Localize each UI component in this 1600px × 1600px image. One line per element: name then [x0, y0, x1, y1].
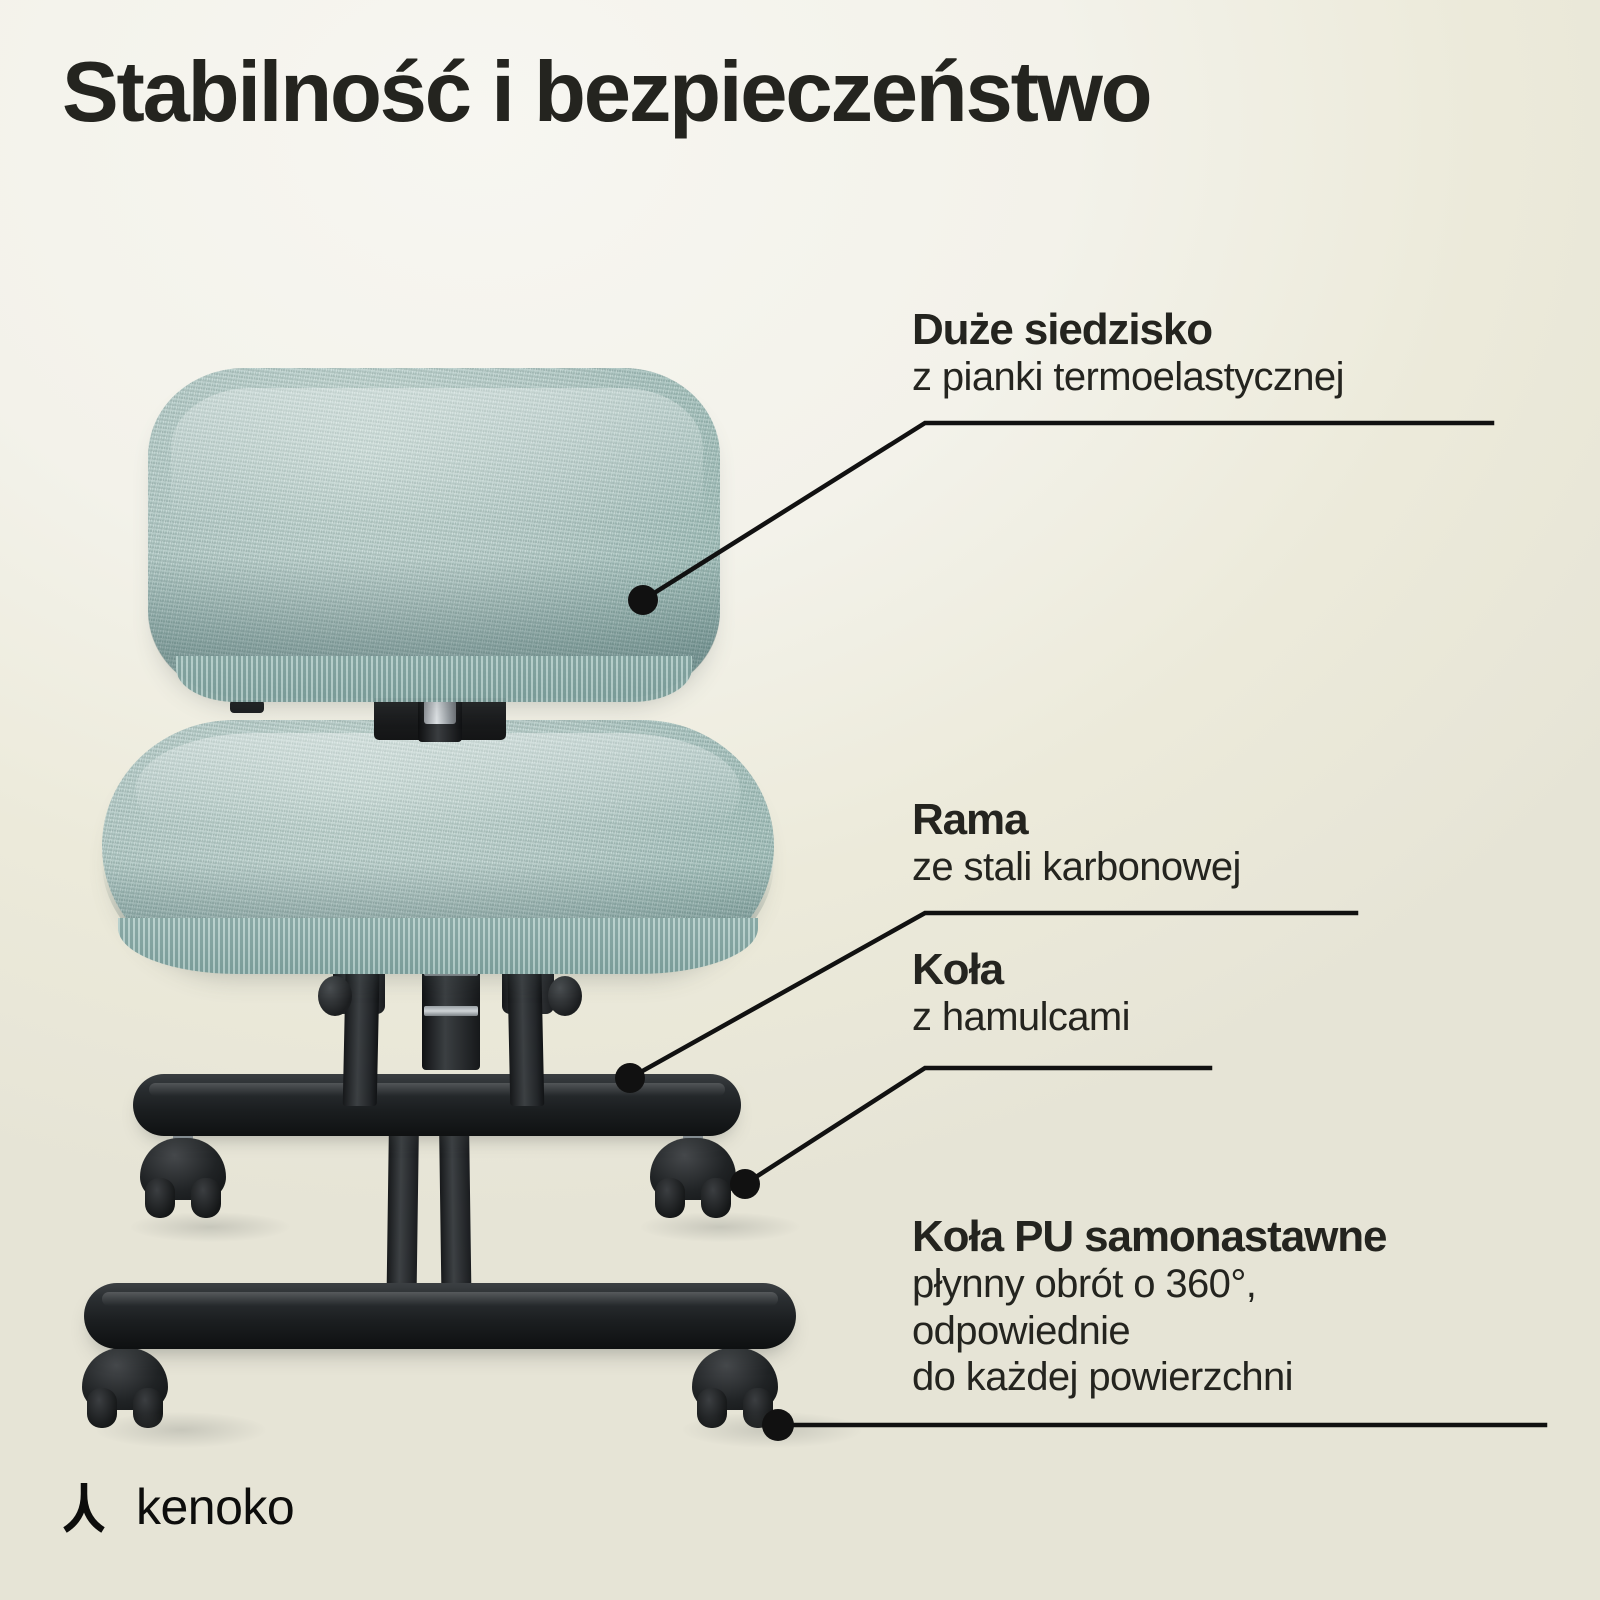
callout-seat: Duże siedzisko z pianki termoelastycznej	[912, 305, 1344, 401]
infographic-canvas: Stabilność i bezpieczeństwo Duże siedzis…	[0, 0, 1600, 1600]
leader-dot-frame	[615, 1063, 645, 1093]
brand-logo: kenoko	[58, 1478, 294, 1536]
brand-logo-text: kenoko	[136, 1478, 294, 1536]
page-title: Stabilność i bezpieczeństwo	[62, 48, 1562, 137]
callout-pu-wheels-heading: Koła PU samonastawne	[912, 1212, 1386, 1261]
callout-pu-wheels-subtext-line3: do każdej powierzchni	[912, 1354, 1386, 1400]
leader-dot-seat	[628, 585, 658, 615]
callout-wheels: Koła z hamulcami	[912, 945, 1130, 1041]
callout-seat-heading: Duże siedzisko	[912, 305, 1344, 354]
leader-line-wheels	[745, 1068, 1210, 1184]
callout-frame-heading: Rama	[912, 795, 1241, 844]
callout-seat-subtext: z pianki termoelastycznej	[912, 354, 1344, 401]
leader-line-seat	[643, 423, 1492, 600]
callout-wheels-subtext: z hamulcami	[912, 994, 1130, 1041]
callout-pu-wheels-subtext-line2: odpowiednie	[912, 1308, 1386, 1354]
leader-dot-pu-wheels	[762, 1409, 794, 1441]
callout-pu-wheels: Koła PU samonastawne płynny obrót o 360°…	[912, 1212, 1386, 1400]
leader-dot-wheels	[730, 1169, 760, 1199]
callout-frame-subtext: ze stali karbonowej	[912, 844, 1241, 891]
person-glyph-icon	[58, 1480, 110, 1534]
callout-wheels-heading: Koła	[912, 945, 1130, 994]
callout-pu-wheels-subtext-line1: płynny obrót o 360°,	[912, 1261, 1386, 1307]
callout-frame: Rama ze stali karbonowej	[912, 795, 1241, 891]
